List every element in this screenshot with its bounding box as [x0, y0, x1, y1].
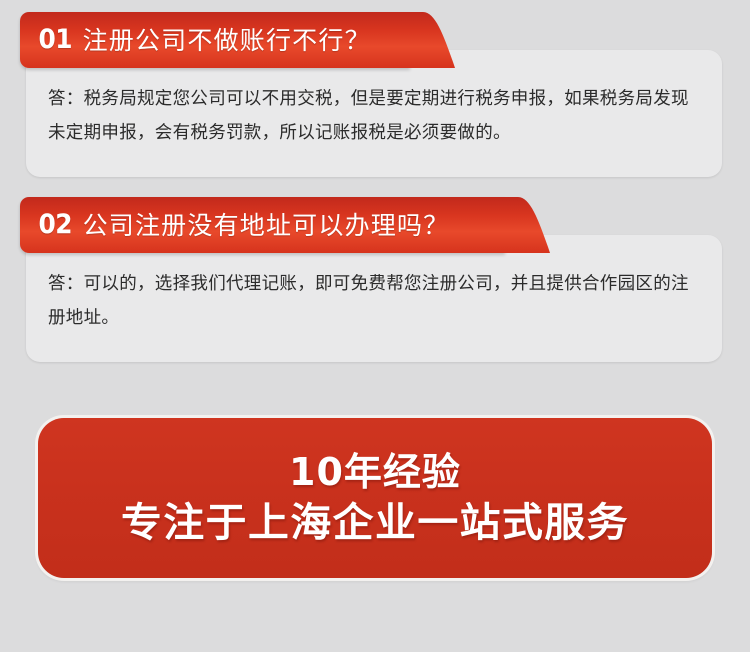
faq-page: 答：税务局规定您公司可以不用交税，但是要定期进行税务申报，如果税务局发现未定期申… [0, 0, 750, 652]
faq-answer-text-2: 答：可以的，选择我们代理记账，即可免费帮您注册公司，并且提供合作园区的注册地址。 [48, 267, 698, 335]
faq-question-ribbon-1[interactable]: 01 注册公司不做账行不行？ [20, 12, 410, 68]
faq-question-text-2: 公司注册没有地址可以办理吗？ [83, 213, 450, 238]
faq-answer-text-1: 答：税务局规定您公司可以不用交税，但是要定期进行税务申报，如果税务局发现未定期申… [48, 82, 698, 150]
faq-question-ribbon-2[interactable]: 02 公司注册没有地址可以办理吗？ [20, 197, 505, 253]
faq-question-text-1: 注册公司不做账行不行？ [83, 28, 371, 53]
promo-subheadline: 专注于上海企业一站式服务 [121, 503, 629, 543]
faq-number-1: 01 [38, 26, 72, 53]
promo-banner[interactable]: 10年经验 专注于上海企业一站式服务 [38, 418, 712, 578]
faq-number-2: 02 [38, 211, 72, 238]
promo-headline: 10年经验 [289, 453, 461, 491]
faq-answer-card-1: 答：税务局规定您公司可以不用交税，但是要定期进行税务申报，如果税务局发现未定期申… [26, 50, 722, 177]
faq-answer-card-2: 答：可以的，选择我们代理记账，即可免费帮您注册公司，并且提供合作园区的注册地址。 [26, 235, 722, 362]
